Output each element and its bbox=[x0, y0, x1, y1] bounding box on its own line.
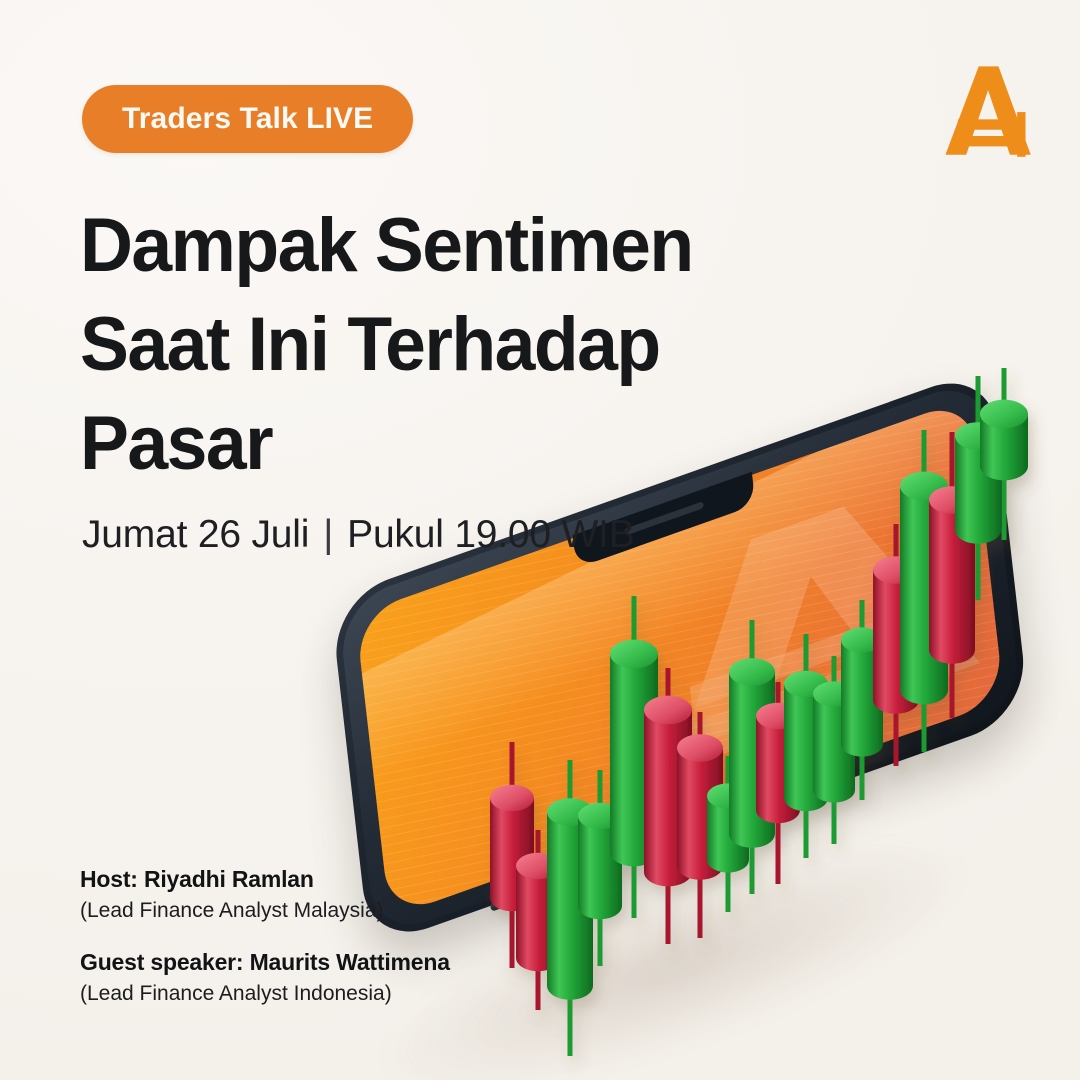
credit-guest: Guest speaker: Maurits Wattimena (Lead F… bbox=[80, 949, 550, 1006]
headline-line-2: Saat Ini Terhadap bbox=[80, 295, 813, 394]
event-date: Jumat 26 Juli bbox=[82, 513, 309, 557]
page-title: Dampak Sentimen Saat Ini Terhadap Pasar bbox=[80, 196, 813, 493]
promo-poster: Traders Talk LIVE Dampak Sentimen Saat I… bbox=[0, 0, 1080, 1080]
credit-host: Host: Riyadhi Ramlan (Lead Finance Analy… bbox=[80, 866, 550, 923]
host-role: (Lead Finance Analyst Malaysia) bbox=[80, 899, 550, 923]
live-badge-label: Traders Talk LIVE bbox=[122, 102, 373, 136]
austral-a-logo-icon bbox=[934, 58, 1038, 162]
event-time: Pukul 19.00 WIB bbox=[347, 513, 634, 557]
host-name: Host: Riyadhi Ramlan bbox=[80, 866, 550, 893]
schedule-separator: | bbox=[323, 513, 333, 557]
headline-line-1: Dampak Sentimen bbox=[80, 196, 813, 295]
guest-role: (Lead Finance Analyst Indonesia) bbox=[80, 982, 550, 1006]
headline-line-3: Pasar bbox=[80, 394, 813, 493]
speaker-credits: Host: Riyadhi Ramlan (Lead Finance Analy… bbox=[80, 866, 550, 1032]
live-badge[interactable]: Traders Talk LIVE bbox=[82, 85, 413, 153]
event-schedule: Jumat 26 Juli | Pukul 19.00 WIB bbox=[82, 513, 635, 557]
guest-name: Guest speaker: Maurits Wattimena bbox=[80, 949, 550, 976]
